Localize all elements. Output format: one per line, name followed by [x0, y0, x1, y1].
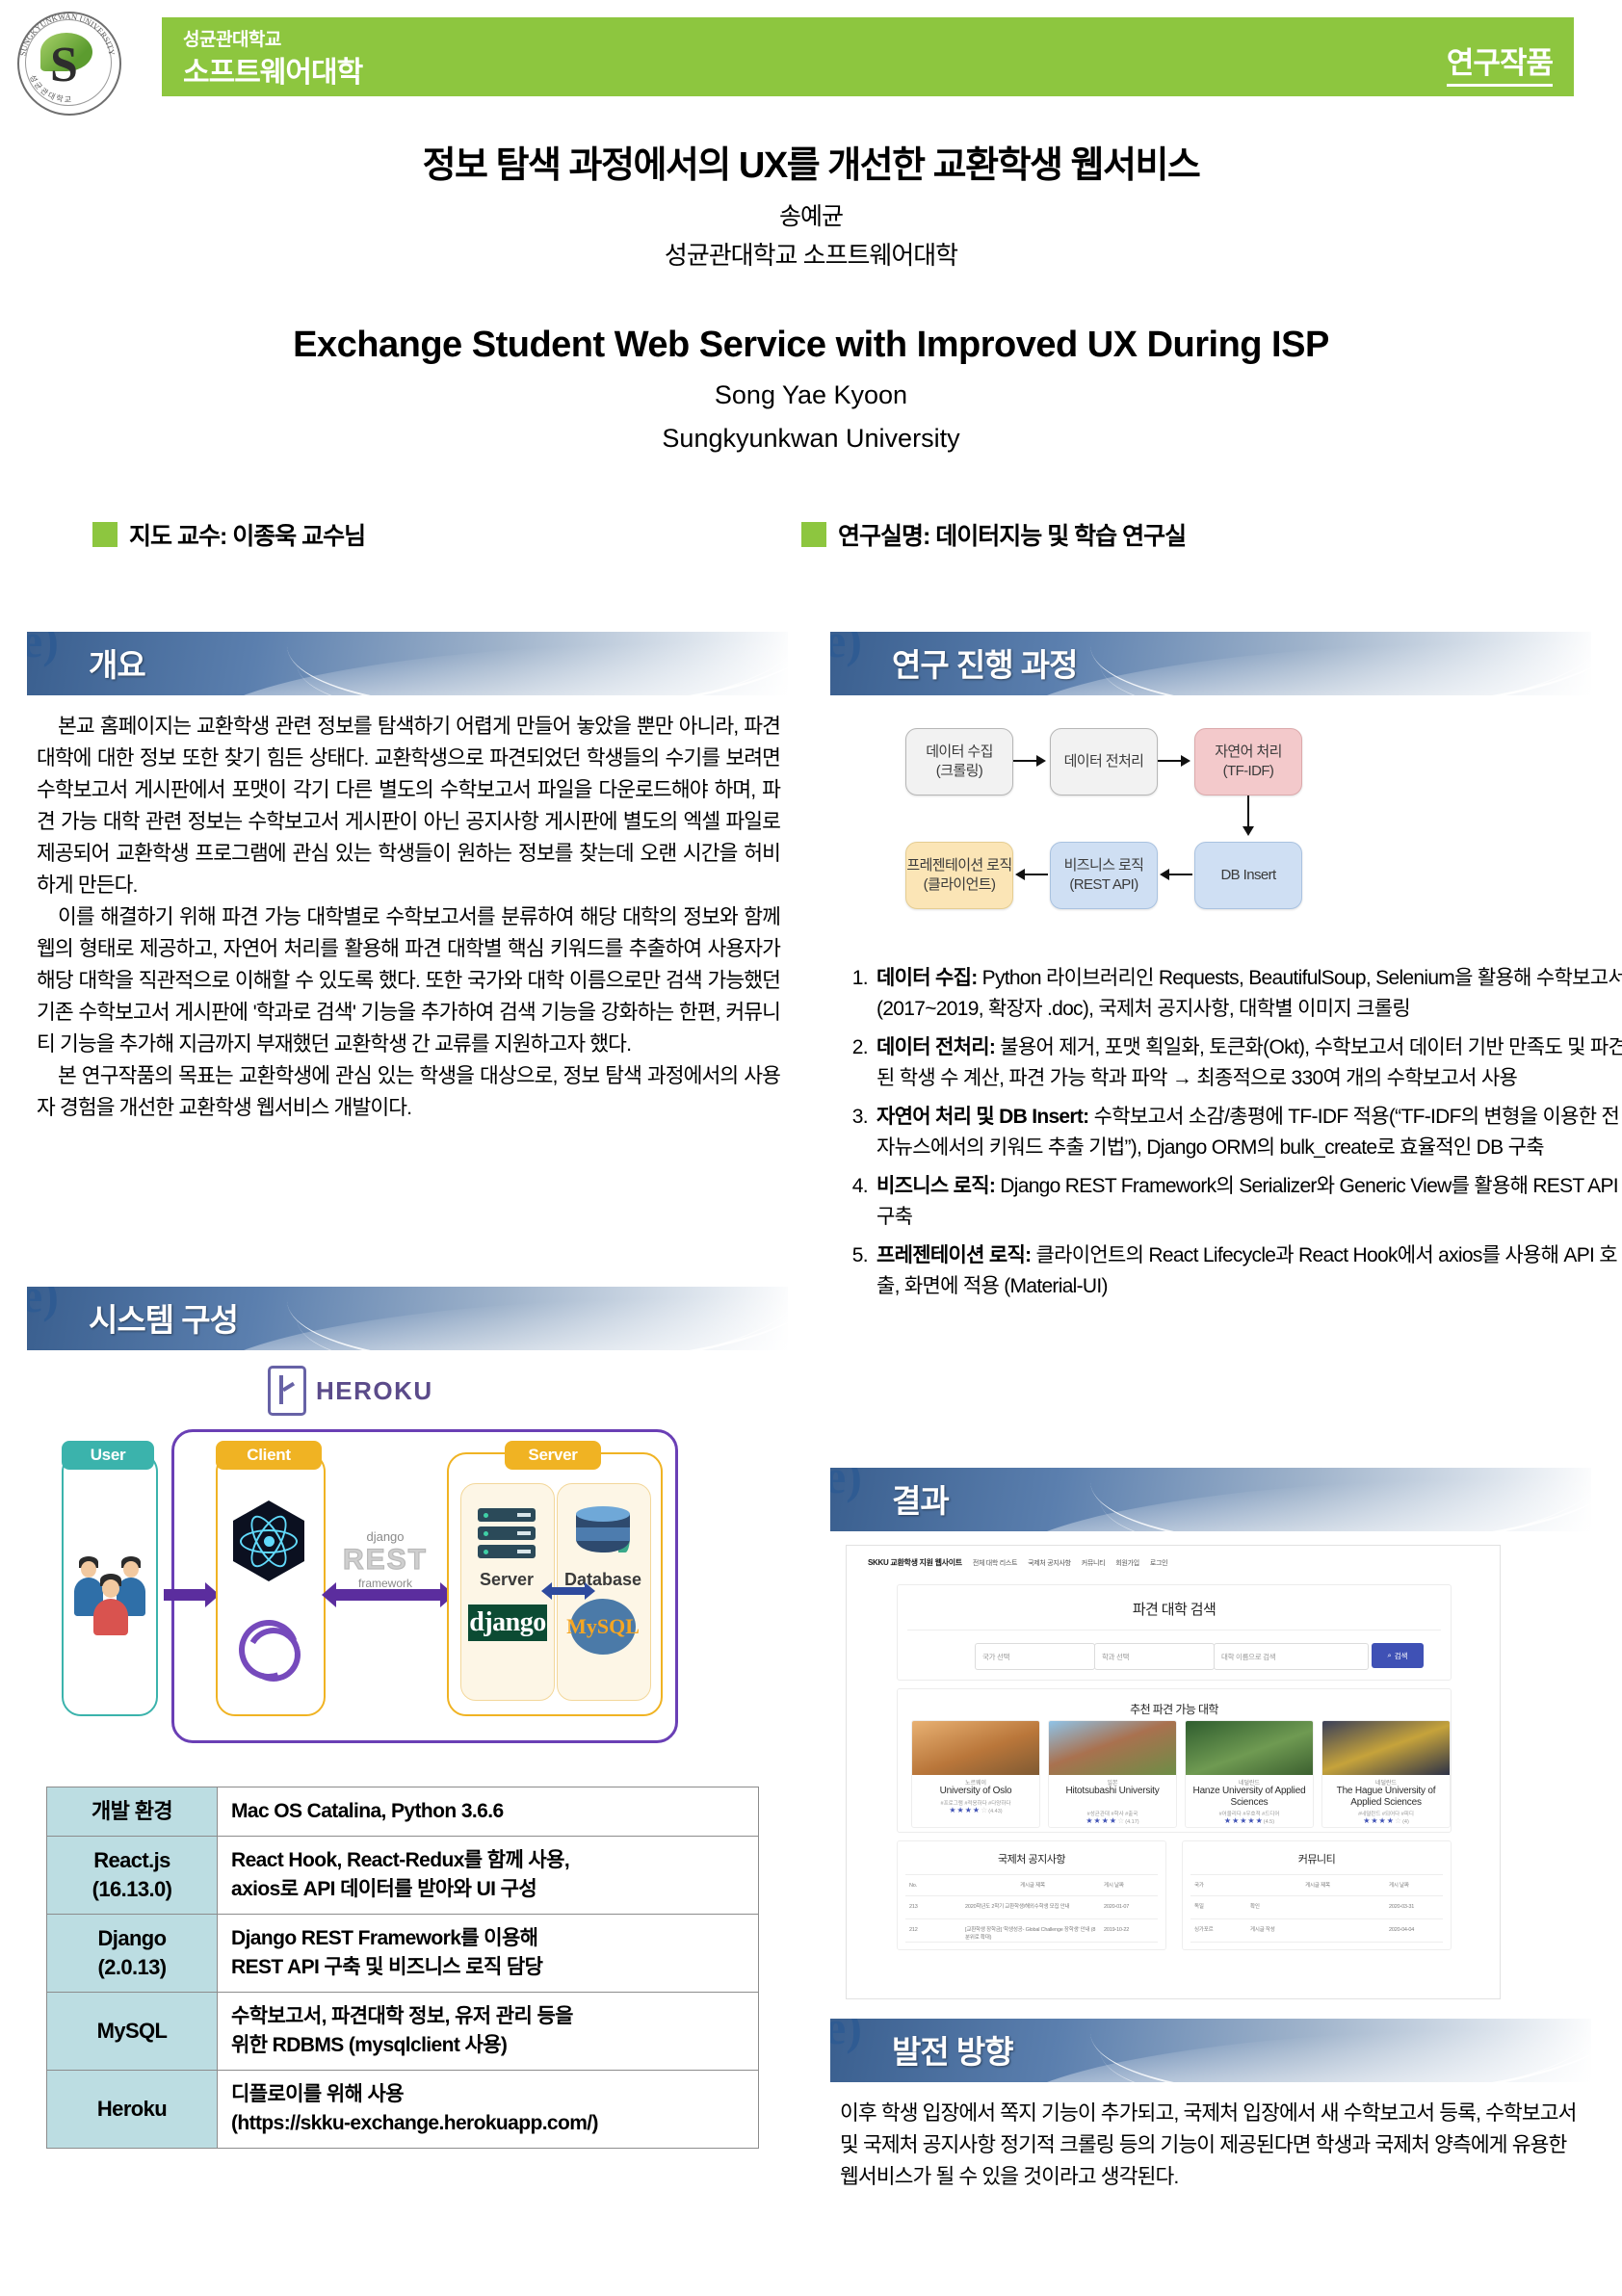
- section-system: e) 시스템 구성: [27, 1287, 788, 1350]
- person-front: [92, 1574, 129, 1635]
- mysql-my: My: [566, 1614, 597, 1638]
- nav-item-1[interactable]: 국제처 공지사항: [1028, 1558, 1071, 1568]
- author-korean: 송예균: [0, 197, 1622, 232]
- tech-row-1-key: React.js(16.13.0): [47, 1837, 218, 1915]
- flow-node-collect-label: 데이터 수집(크롤링): [926, 743, 993, 781]
- university-rating: ★★★★☆(4): [1322, 1816, 1450, 1825]
- user-box-label: User: [62, 1441, 154, 1470]
- university-card[interactable]: 네덜란드Hanze University of Applied Sciences…: [1185, 1720, 1314, 1828]
- university-rating: ★★★★☆(4.17): [1049, 1816, 1176, 1825]
- drf-main-label: REST: [331, 1544, 439, 1577]
- community-board: 커뮤니티 국가게시글 제목게시 날짜독일확인2020-03-31싱가포르게시글 …: [1182, 1840, 1452, 1950]
- e-badge-icon: e): [830, 632, 880, 672]
- e-badge-icon: e): [27, 1287, 77, 1327]
- notice-cell[interactable]: 2020학년도 2학기 교환학생/해외수학생 모집 안내: [965, 1903, 1100, 1911]
- tech-row-0-key: 개발 환경: [47, 1787, 218, 1837]
- tech-table-body: 개발 환경Mac OS Catalina, Python 3.6.6React.…: [47, 1787, 759, 2149]
- notice-cell[interactable]: [교환학생 장학금] '학생성공- Global Challenge 장학생' …: [965, 1926, 1100, 1942]
- overview-paragraph-1: 본교 홈페이지는 교환학생 관련 정보를 탐색하기 어렵게 만들어 놓았을 뿐만…: [37, 711, 780, 901]
- university-name-input[interactable]: 대학 이름으로 검색: [1214, 1643, 1369, 1670]
- tech-row-0-value: Mac OS Catalina, Python 3.6.6: [218, 1787, 759, 1837]
- heroku-label: HEROKU: [316, 1376, 433, 1406]
- process-step-1: 데이터 수집: Python 라이브러리인 Requests, Beautifu…: [873, 963, 1622, 1025]
- drf-top-label: django: [331, 1529, 439, 1544]
- affiliation-korean: 성균관대학교 소프트웨어대학: [0, 236, 1622, 272]
- community-column-header: 게시 날짜: [1389, 1882, 1441, 1890]
- notice-column-header: 게시 날짜: [1104, 1882, 1156, 1890]
- tech-table-row: Heroku디플로이를 위해 사용(https://skku-exchange.…: [47, 2071, 759, 2149]
- university-photo: [1322, 1721, 1450, 1775]
- database-cylinder-icon: [576, 1506, 630, 1562]
- notice-cell: 213: [909, 1903, 961, 1911]
- university-rating: ★★★★★(4.5): [1186, 1816, 1313, 1825]
- university-name: Hitotsubashi University: [1049, 1786, 1176, 1797]
- e-badge-icon: e): [27, 632, 77, 672]
- arrow-user-to-client: [164, 1589, 206, 1601]
- notice-cell: 212: [909, 1926, 961, 1934]
- section-result-title: 결과: [892, 1475, 949, 1522]
- django-logo-icon: django: [468, 1605, 547, 1641]
- search-button-label: 검색: [1395, 1651, 1408, 1661]
- header-college: 소프트웨어대학: [183, 48, 362, 91]
- process-step-5: 프레젠테이션 로직: 클라이언트의 React Lifecycle과 React…: [873, 1240, 1622, 1302]
- flow-arrow-4: [1169, 874, 1192, 875]
- server-inner-label: Server: [460, 1570, 553, 1590]
- server-box-label: Server: [505, 1441, 601, 1470]
- drf-bottom-label: framework: [331, 1577, 439, 1590]
- section-process: e) 연구 진행 과정: [830, 632, 1591, 695]
- process-step-2: 데이터 전처리: 불용어 제거, 포맷 획일화, 토큰화(Okt), 수학보고서…: [873, 1032, 1622, 1094]
- site-brand: SKKU 교환학생 지원 웹사이트: [868, 1557, 962, 1568]
- nav-item-0[interactable]: 전체 대학 리스트: [973, 1558, 1017, 1568]
- section-future-title: 발전 방향: [892, 2026, 1013, 2073]
- search-icon: ⌕: [1387, 1651, 1391, 1660]
- flow-node-nlp-label: 자연어 처리(TF-IDF): [1215, 743, 1282, 781]
- mysql-logo-icon: MySQL: [570, 1599, 636, 1655]
- search-card: 파견 대학 검색 국가 선택 학과 선택 대학 이름으로 검색 ⌕검색: [897, 1584, 1452, 1681]
- community-cell: 독일: [1194, 1903, 1246, 1911]
- community-cell[interactable]: 확인: [1250, 1903, 1385, 1911]
- section-result-header: e) 결과: [830, 1468, 1591, 1531]
- university-card[interactable]: 일본Hitotsubashi University#성균관대 #학사 #출국★★…: [1048, 1720, 1177, 1828]
- mysql-sql: SQL: [597, 1614, 640, 1638]
- search-card-title: 파견 대학 검색: [898, 1599, 1451, 1619]
- flow-arrow-2: [1158, 760, 1183, 762]
- heroku-mark-icon: [268, 1366, 306, 1416]
- tech-row-4-key: Heroku: [47, 2071, 218, 2149]
- client-box-label: Client: [216, 1441, 322, 1470]
- nav-item-3[interactable]: 회원가입: [1115, 1558, 1139, 1568]
- notice-row-divider: [905, 1942, 1158, 1943]
- notice-board-title: 국제처 공지사항: [898, 1851, 1165, 1866]
- notice-cell: 2019-10-22: [1104, 1926, 1156, 1934]
- notice-column-header: 게시글 제목: [965, 1882, 1100, 1890]
- result-screenshot: SKKU 교환학생 지원 웹사이트 전체 대학 리스트 국제처 공지사항 커뮤니…: [846, 1545, 1501, 1999]
- seal-letter: S: [50, 40, 78, 91]
- affiliation-english: Sungkyunkwan University: [0, 424, 1622, 454]
- overview-body: 본교 홈페이지는 교환학생 관련 정보를 탐색하기 어렵게 만들어 놓았을 뿐만…: [27, 695, 788, 1124]
- tech-row-3-value: 수학보고서, 파견대학 정보, 유저 관리 등을위한 RDBMS (mysqlc…: [218, 1993, 759, 2071]
- notice-row-divider: [905, 1918, 1158, 1919]
- section-overview-header: e) 개요: [27, 632, 788, 695]
- tech-row-2-key: Django(2.0.13): [47, 1915, 218, 1993]
- system-architecture-diagram: HEROKU User Client django REST: [27, 1366, 788, 1770]
- arrow-server-database: [551, 1587, 586, 1595]
- overview-paragraph-2: 이를 해결하기 위해 파견 가능 대학별로 수학보고서를 분류하여 해당 대학의…: [37, 901, 780, 1060]
- tech-table-row: MySQL수학보고서, 파견대학 정보, 유저 관리 등을위한 RDBMS (m…: [47, 1993, 759, 2071]
- users-icon: [73, 1549, 148, 1635]
- e-badge-icon: e): [830, 1468, 880, 1508]
- search-button[interactable]: ⌕검색: [1372, 1643, 1424, 1668]
- community-cell: 2020-04-04: [1389, 1926, 1441, 1934]
- research-process-flow-diagram: 데이터 수집(크롤링) 데이터 전처리 자연어 처리(TF-IDF) DB In…: [905, 718, 1522, 940]
- university-photo: [1049, 1721, 1176, 1775]
- flow-node-collect: 데이터 수집(크롤링): [905, 728, 1013, 796]
- community-row-divider: [1190, 1942, 1443, 1943]
- section-future-header: e) 발전 방향: [830, 2019, 1591, 2082]
- meta-row: 지도 교수: 이종욱 교수님 연구실명: 데이터지능 및 학습 연구실: [0, 517, 1622, 552]
- section-overview: e) 개요 본교 홈페이지는 교환학생 관련 정보를 탐색하기 어렵게 만들어 …: [27, 632, 788, 1124]
- tech-row-3-key: MySQL: [47, 1993, 218, 2071]
- e-badge-icon: e): [830, 2019, 880, 2059]
- overview-paragraph-3: 본 연구작품의 목표는 교환학생에 관심 있는 학생을 대상으로, 정보 탐색 …: [37, 1060, 780, 1124]
- tech-row-4-value: 디플로이를 위해 사용(https://skku-exchange.heroku…: [218, 2071, 759, 2149]
- site-navbar: SKKU 교환학생 지원 웹사이트 전체 대학 리스트 국제처 공지사항 커뮤니…: [868, 1557, 1167, 1568]
- advisor-bullet-icon: [92, 522, 118, 547]
- heroku-logo: HEROKU: [268, 1366, 433, 1416]
- flow-node-pre-label: 데이터 전처리: [1064, 752, 1144, 771]
- flow-node-pres-label: 프레젠테이션 로직(클라이언트): [906, 856, 1011, 895]
- recommend-title: 추천 파견 가능 대학: [898, 1701, 1451, 1717]
- advisor-label: 지도 교수: 이종욱 교수님: [129, 517, 365, 552]
- process-step-4: 비즈니스 로직: Django REST Framework의 Serializ…: [873, 1171, 1622, 1233]
- future-paragraph: 이후 학생 입장에서 쪽지 기능이 추가되고, 국제처 입장에서 새 수학보고서…: [840, 2098, 1582, 2193]
- arrow-client-server: [335, 1589, 441, 1601]
- tech-row-2-value: Django REST Framework를 이용해REST API 구축 및 …: [218, 1915, 759, 1993]
- nav-item-4[interactable]: 로그인: [1150, 1558, 1167, 1568]
- django-rest-framework-logo: django REST framework: [331, 1529, 439, 1590]
- country-select[interactable]: 국가 선택: [975, 1643, 1095, 1670]
- tech-table-row: 개발 환경Mac OS Catalina, Python 3.6.6: [47, 1787, 759, 1837]
- recommend-card: 추천 파견 가능 대학 노르웨이University of Oslo#프로그램 …: [897, 1688, 1452, 1833]
- redux-logo-icon: [237, 1618, 302, 1682]
- section-process-header: e) 연구 진행 과정: [830, 632, 1591, 695]
- advisor-item: 지도 교수: 이종욱 교수님: [92, 517, 365, 552]
- header-university: 성균관대학교: [183, 25, 281, 51]
- server-rack-icon: [478, 1508, 536, 1558]
- university-name: University of Oslo: [912, 1786, 1039, 1797]
- flow-node-pre: 데이터 전처리: [1050, 728, 1158, 796]
- university-name: Hanze University of Applied Sciences: [1186, 1786, 1313, 1809]
- tech-stack-table: 개발 환경Mac OS Catalina, Python 3.6.6React.…: [46, 1787, 759, 2149]
- community-divider: [1190, 1895, 1443, 1896]
- notice-board: 국제처 공지사항 No.게시글 제목게시 날짜2132020학년도 2학기 교환…: [897, 1840, 1166, 1950]
- university-card[interactable]: 노르웨이University of Oslo#프로그램 #적응하다 #다양하다★…: [911, 1720, 1040, 1828]
- notice-column-header: No.: [909, 1882, 961, 1890]
- tech-table-row: React.js(16.13.0)React Hook, React-Redux…: [47, 1837, 759, 1915]
- flow-node-nlp: 자연어 처리(TF-IDF): [1194, 728, 1302, 796]
- community-column-header: 게시글 제목: [1250, 1882, 1385, 1890]
- community-cell[interactable]: 게시글 작성: [1250, 1926, 1385, 1934]
- tech-row-1-value: React Hook, React-Redux를 함께 사용,axios로 AP…: [218, 1837, 759, 1915]
- flow-node-dbinsert: DB Insert: [1194, 842, 1302, 909]
- flow-node-biz: 비즈니스 로직(REST API): [1050, 842, 1158, 909]
- community-row-divider: [1190, 1918, 1443, 1919]
- university-card[interactable]: 네덜란드The Hague University of Applied Scie…: [1321, 1720, 1451, 1828]
- community-board-title: 커뮤니티: [1183, 1851, 1451, 1866]
- university-name: The Hague University of Applied Sciences: [1322, 1786, 1450, 1809]
- process-steps-list: 데이터 수집: Python 라이브러리인 Requests, Beautifu…: [840, 963, 1622, 1310]
- tech-table-row: Django(2.0.13)Django REST Framework를 이용해…: [47, 1915, 759, 1993]
- header-badge: 연구작품: [1447, 39, 1553, 87]
- flow-arrow-1: [1013, 760, 1038, 762]
- flow-arrow-3: [1247, 796, 1249, 828]
- section-system-header: e) 시스템 구성: [27, 1287, 788, 1350]
- flow-node-pres: 프레젠테이션 로직(클라이언트): [905, 842, 1013, 909]
- section-overview-title: 개요: [89, 639, 145, 686]
- flow-node-dbinsert-label: DB Insert: [1220, 866, 1275, 885]
- lab-bullet-icon: [801, 522, 826, 547]
- lab-item: 연구실명: 데이터지능 및 학습 연구실: [801, 517, 1186, 552]
- university-rating: ★★★★☆(4.43): [912, 1806, 1039, 1814]
- lab-label: 연구실명: 데이터지능 및 학습 연구실: [838, 517, 1186, 552]
- section-process-title: 연구 진행 과정: [892, 639, 1078, 686]
- section-result: e) 결과: [830, 1468, 1591, 1531]
- title-english: Exchange Student Web Service with Improv…: [0, 325, 1622, 366]
- notice-cell: 2020-01-07: [1104, 1903, 1156, 1911]
- community-cell: 2020-03-31: [1389, 1903, 1441, 1911]
- notice-divider: [905, 1895, 1158, 1896]
- major-select[interactable]: 학과 선택: [1094, 1643, 1215, 1670]
- future-body: 이후 학생 입장에서 쪽지 기능이 추가되고, 국제처 입장에서 새 수학보고서…: [830, 2082, 1591, 2193]
- community-cell: 싱가포르: [1194, 1926, 1246, 1934]
- process-step-3: 자연어 처리 및 DB Insert: 수학보고서 소감/총평에 TF-IDF …: [873, 1102, 1622, 1163]
- skku-seal-logo: SUNGKYUNKWAN UNIVERSITY 성 균 관 대 학 교 S: [13, 8, 121, 116]
- community-column-header: 국가: [1194, 1882, 1246, 1890]
- flow-node-biz-label: 비즈니스 로직(REST API): [1064, 856, 1144, 895]
- header-banner: 성균관대학교 소프트웨어대학 연구작품: [162, 17, 1574, 96]
- flow-arrow-5: [1025, 874, 1048, 875]
- section-future: e) 발전 방향 이후 학생 입장에서 쪽지 기능이 추가되고, 국제처 입장에…: [830, 2019, 1591, 2193]
- university-photo: [1186, 1721, 1313, 1775]
- section-system-title: 시스템 구성: [89, 1294, 238, 1341]
- author-english: Song Yae Kyoon: [0, 380, 1622, 410]
- title-korean: 정보 탐색 과정에서의 UX를 개선한 교환학생 웹서비스: [0, 135, 1622, 188]
- nav-item-2[interactable]: 커뮤니티: [1082, 1558, 1106, 1568]
- university-photo: [912, 1721, 1039, 1775]
